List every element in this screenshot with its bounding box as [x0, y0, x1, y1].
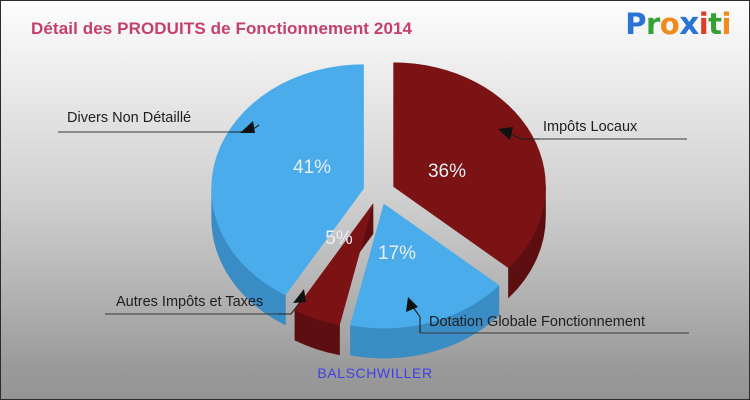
pie-chart-svg: 41% 36% 17% 5% Divers Non Détaillé Impôt…: [1, 1, 749, 399]
slice-value-impots: 36%: [428, 161, 466, 182]
slice-value-dotation: 17%: [378, 243, 416, 264]
city-name: BALSCHWILLER: [1, 365, 749, 381]
callout-arrow-icon: [293, 289, 306, 303]
callout-label-divers: Divers Non Détaillé: [67, 110, 191, 126]
callout-label-dotation: Dotation Globale Fonctionnement: [429, 314, 645, 330]
slice-value-autres: 5%: [325, 228, 353, 249]
slice-value-divers: 41%: [293, 157, 331, 178]
chart-page: Détail des PRODUITS de Fonctionnement 20…: [0, 0, 750, 400]
pie-chart: 41% 36% 17% 5% Divers Non Détaillé Impôt…: [1, 1, 749, 399]
callout-label-impots: Impôts Locaux: [543, 119, 638, 135]
callout-divers-non-detaille[interactable]: Divers Non Détaillé: [58, 110, 259, 133]
callout-label-autres: Autres Impôts et Taxes: [116, 294, 263, 310]
